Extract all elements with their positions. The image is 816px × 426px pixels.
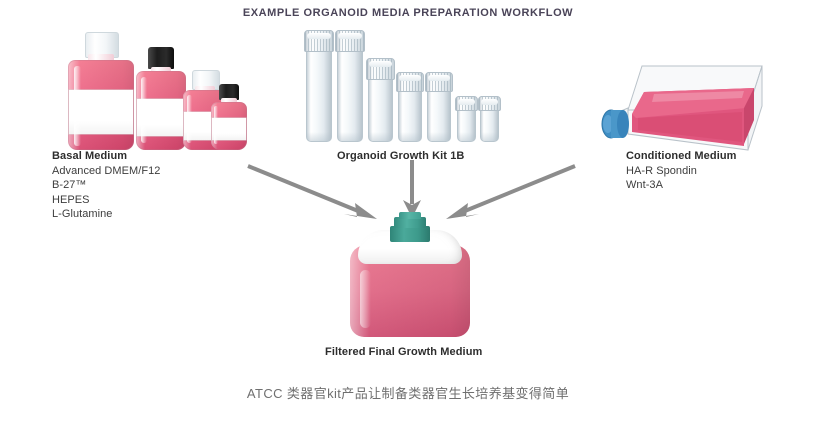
- bottle-cap-black: [148, 47, 174, 69]
- cryovial-5: [427, 72, 451, 142]
- cryovial-2: [337, 30, 363, 142]
- final-bottle-cap-top: [399, 212, 421, 219]
- cryovial-7: [480, 96, 499, 142]
- diagram-canvas: EXAMPLE ORGANOID MEDIA PREPARATION WORKF…: [0, 0, 816, 426]
- final-bottle-highlight: [360, 270, 371, 328]
- vial-cap: [478, 96, 501, 111]
- bottle-small-black: [211, 84, 247, 150]
- label-kit-heading: Organoid Growth Kit 1B: [337, 149, 464, 164]
- bottle-label: [212, 118, 246, 140]
- vial-cap: [335, 30, 365, 52]
- label-basal-line-1: Advanced DMEM/F12: [52, 164, 160, 179]
- final-media-bottle: [350, 212, 470, 337]
- cryovial-1: [306, 30, 332, 142]
- bottle-large: [68, 32, 134, 150]
- vial-cap: [304, 30, 334, 52]
- bottle-medium: [136, 47, 186, 150]
- vial-cap: [425, 72, 453, 92]
- cryovial-4: [398, 72, 422, 142]
- final-bottle-cap-base: [390, 226, 430, 242]
- cryovial-3: [368, 58, 393, 142]
- vial-cap: [366, 58, 395, 80]
- flask-svg: [594, 62, 764, 154]
- culture-flask: [594, 62, 764, 152]
- label-filtered-final-growth-medium: Filtered Final Growth Medium: [325, 345, 482, 360]
- label-basal-line-2: B-27™: [52, 178, 160, 193]
- cryovial-6: [457, 96, 476, 142]
- bottle-label: [69, 90, 133, 134]
- label-organoid-growth-kit: Organoid Growth Kit 1B: [337, 149, 464, 164]
- label-basal-heading: Basal Medium: [52, 149, 160, 164]
- media-bottles-group: [60, 22, 230, 150]
- label-cond-heading: Conditioned Medium: [626, 149, 737, 164]
- diagram-title: EXAMPLE ORGANOID MEDIA PREPARATION WORKF…: [0, 7, 816, 19]
- cryovial-rack-group: [306, 30, 496, 145]
- label-basal-line-3: HEPES: [52, 193, 160, 208]
- bottle-label: [137, 99, 185, 136]
- label-conditioned-medium: Conditioned Medium HA-R Spondin Wnt-3A: [626, 149, 737, 193]
- label-basal-medium: Basal Medium Advanced DMEM/F12 B-27™ HEP…: [52, 149, 160, 222]
- label-cond-line-2: Wnt-3A: [626, 178, 737, 193]
- vial-cap: [455, 96, 478, 111]
- label-final-heading: Filtered Final Growth Medium: [325, 345, 482, 360]
- vial-cap: [396, 72, 424, 92]
- figure-caption: ATCC 类器官kit产品让制备类器官生长培养基变得简单: [0, 383, 816, 402]
- label-basal-line-4: L-Glutamine: [52, 207, 160, 222]
- label-cond-line-1: HA-R Spondin: [626, 164, 737, 179]
